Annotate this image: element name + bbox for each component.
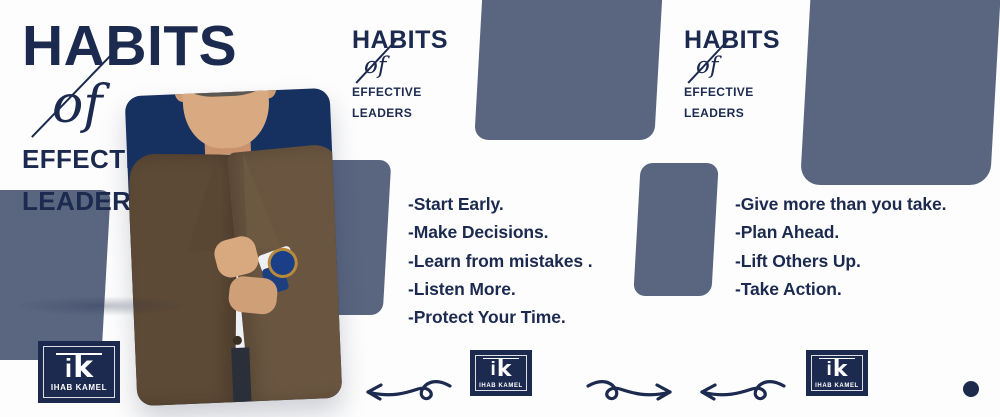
portrait-hand-lower <box>227 275 278 316</box>
portrait-head <box>181 88 271 150</box>
logo-horizontal-bar <box>483 358 519 359</box>
headline-right-leaders: LEADERS <box>684 107 844 120</box>
decorative-dot-icon <box>963 381 979 397</box>
list-item: -Lift Others Up. <box>735 247 946 275</box>
list-item: -Learn from mistakes . <box>408 247 593 275</box>
habits-list-right: -Give more than you take. -Plan Ahead. -… <box>735 190 946 303</box>
curly-arrow-left-icon <box>350 372 460 417</box>
portrait-drop-shadow <box>14 296 194 316</box>
portrait-photo <box>125 88 343 406</box>
headline-right-effective: EFFECTIVE <box>684 86 844 99</box>
headline-main-habits: HABITS <box>22 18 322 75</box>
portrait-tie <box>231 347 251 404</box>
logo-name: IHAB KAMEL <box>38 383 120 392</box>
brand-logo-secondary[interactable]: ik IHAB KAMEL <box>470 350 532 396</box>
brand-logo-tertiary[interactable]: ik IHAB KAMEL <box>806 350 868 396</box>
brand-logo-primary[interactable]: ik IHAB KAMEL <box>38 341 120 403</box>
logo-letter-k: k <box>833 360 848 379</box>
curly-arrow-right-icon <box>578 372 688 417</box>
list-item: -Plan Ahead. <box>735 218 946 246</box>
banner-canvas: HABITS of EFFECTIVE LEADERS HABITS of EF… <box>0 0 1000 417</box>
logo-name: IHAB KAMEL <box>806 383 868 389</box>
logo-letter-k: k <box>497 360 512 379</box>
headline-lockup-middle: HABITS of EFFECTIVE LEADERS <box>352 28 512 120</box>
portrait-card-background <box>125 88 343 406</box>
list-item: -Take Action. <box>735 275 946 303</box>
logo-letter-i: i <box>65 355 72 381</box>
portrait-jacket-left <box>127 154 238 407</box>
logo-letter-k: k <box>73 355 93 381</box>
headline-middle-effective: EFFECTIVE <box>352 86 512 99</box>
logo-horizontal-bar <box>56 353 102 355</box>
logo-letter-i: i <box>827 360 832 379</box>
list-item: -Start Early. <box>408 190 593 218</box>
decorative-slab-middle-center <box>633 163 718 296</box>
curly-arrow-left-icon <box>684 372 794 417</box>
headline-right-habits: HABITS <box>684 28 844 53</box>
habits-list-left: -Start Early. -Make Decisions. -Learn fr… <box>408 190 593 332</box>
logo-horizontal-bar <box>819 358 855 359</box>
logo-name: IHAB KAMEL <box>470 383 532 389</box>
list-item: -Make Decisions. <box>408 218 593 246</box>
headline-right-of: of <box>696 55 844 78</box>
headline-middle-of: of <box>364 55 512 78</box>
headline-middle-habits: HABITS <box>352 28 512 53</box>
list-item: -Give more than you take. <box>735 190 946 218</box>
headline-middle-leaders: LEADERS <box>352 107 512 120</box>
logo-letter-i: i <box>491 360 496 379</box>
headline-lockup-right: HABITS of EFFECTIVE LEADERS <box>684 28 844 120</box>
list-item: -Protect Your Time. <box>408 303 593 331</box>
list-item: -Listen More. <box>408 275 593 303</box>
